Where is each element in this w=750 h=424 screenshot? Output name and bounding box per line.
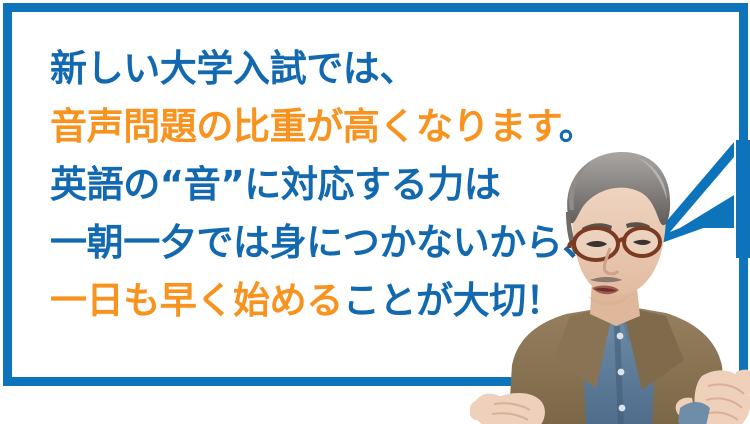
- headline-segment: 一朝一夕では身につかないから、: [50, 221, 599, 264]
- headline-segment: ことが大切！: [343, 279, 563, 322]
- headline-line-2: 音声問題の比重が高くなります。: [50, 98, 610, 156]
- headline-line-5: 一日も早く始めることが大切！: [50, 272, 610, 330]
- headline-segment: 英語の“音”に対応する力は: [50, 163, 500, 206]
- headline-segment: 新しい大学入試では、: [50, 47, 416, 90]
- headline-line-1: 新しい大学入試では、: [50, 40, 610, 98]
- headline-line-4: 一朝一夕では身につかないから、: [50, 214, 610, 272]
- headline-block: 新しい大学入試では、 音声問題の比重が高くなります。 英語の“音”に対応する力は…: [50, 40, 610, 330]
- headline-segment-highlight: 一日も早く始める: [50, 279, 343, 324]
- headline-segment: 。: [559, 105, 596, 148]
- banner: 新しい大学入試では、 音声問題の比重が高くなります。 英語の“音”に対応する力は…: [0, 0, 750, 424]
- headline-segment-highlight: 音声問題の比重が高くなります: [50, 105, 559, 150]
- headline-line-3: 英語の“音”に対応する力は: [50, 156, 610, 214]
